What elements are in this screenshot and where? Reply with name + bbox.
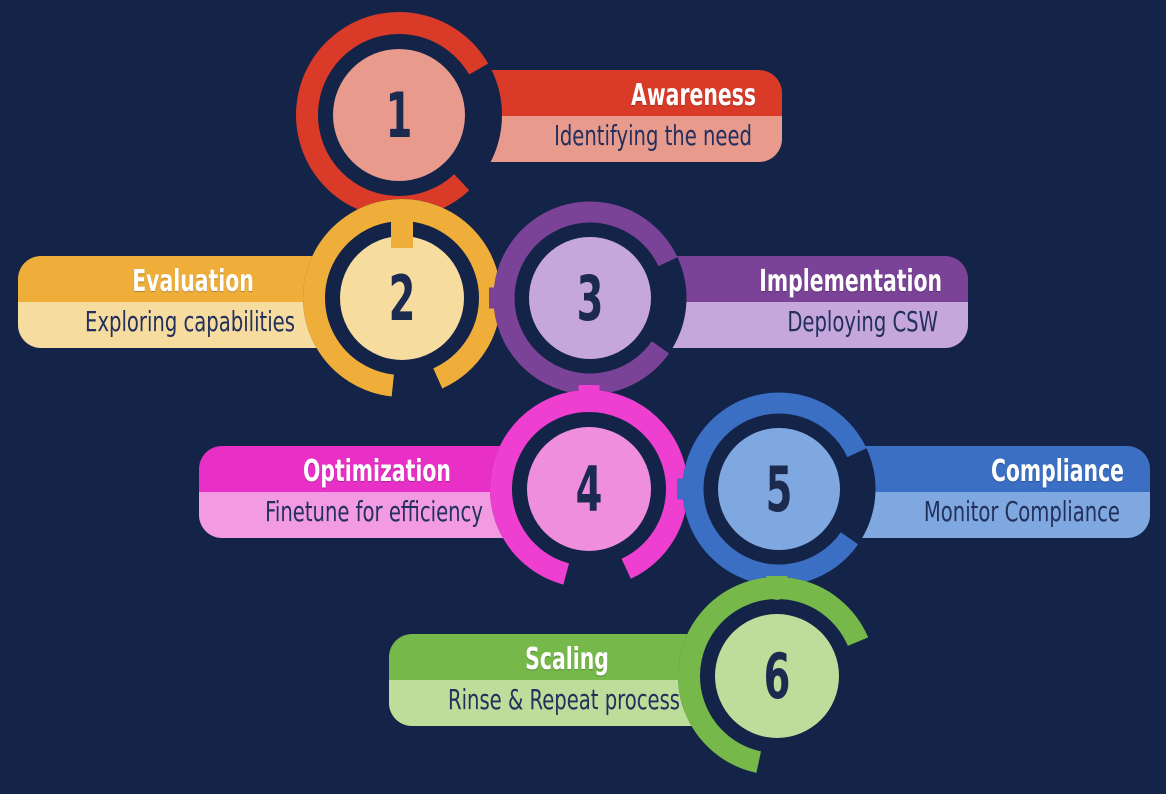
step-subtitle-1: Identifying the need <box>226 115 752 157</box>
step-disc-6 <box>715 614 839 738</box>
step-title-2: Evaluation <box>74 260 312 304</box>
step-title-6: Scaling <box>446 638 688 682</box>
step-title-3: Implementation <box>301 260 942 304</box>
step-subtitle-3: Deploying CSW <box>281 301 938 343</box>
step-subtitle-5: Monitor Compliance <box>336 491 1120 533</box>
step-subtitle-2: Exploring capabilities <box>70 301 311 343</box>
step-title-1: Awareness <box>242 74 756 118</box>
step-subtitle-6: Rinse & Repeat process <box>442 679 687 721</box>
infographic-canvas: 1AwarenessIdentifying the need2Evaluatio… <box>0 0 1166 794</box>
step-title-5: Compliance <box>360 450 1124 494</box>
